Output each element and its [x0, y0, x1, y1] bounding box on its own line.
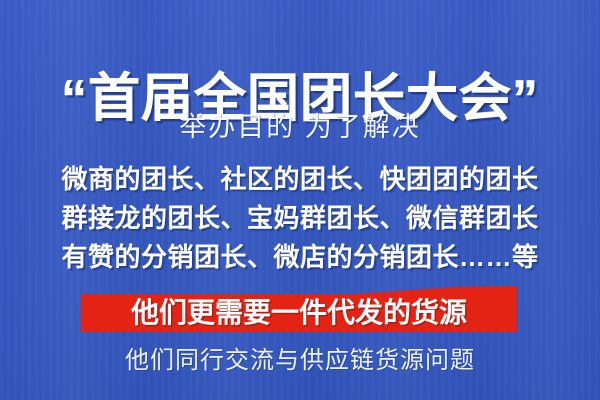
audience-line: 微商的团长、社区的团长、快团团的团长	[0, 160, 600, 199]
highlight-banner: 他们更需要一件代发的货源	[0, 286, 600, 332]
poster-footer-text: 他们同行交流与供应链货源问题	[0, 344, 600, 378]
poster-subtitle: 举办目的 为了解决	[0, 108, 600, 146]
audience-line: 有赞的分销团长、微店的分销团长……等	[0, 238, 600, 277]
promo-poster: “首届全国团长大会” 举办目的 为了解决 微商的团长、社区的团长、快团团的团长 …	[0, 0, 600, 400]
banner-label: 他们更需要一件代发的货源	[81, 286, 517, 332]
audience-line: 群接龙的团长、宝妈群团长、微信群团长	[0, 199, 600, 238]
audience-list: 微商的团长、社区的团长、快团团的团长 群接龙的团长、宝妈群团长、微信群团长 有赞…	[0, 160, 600, 277]
